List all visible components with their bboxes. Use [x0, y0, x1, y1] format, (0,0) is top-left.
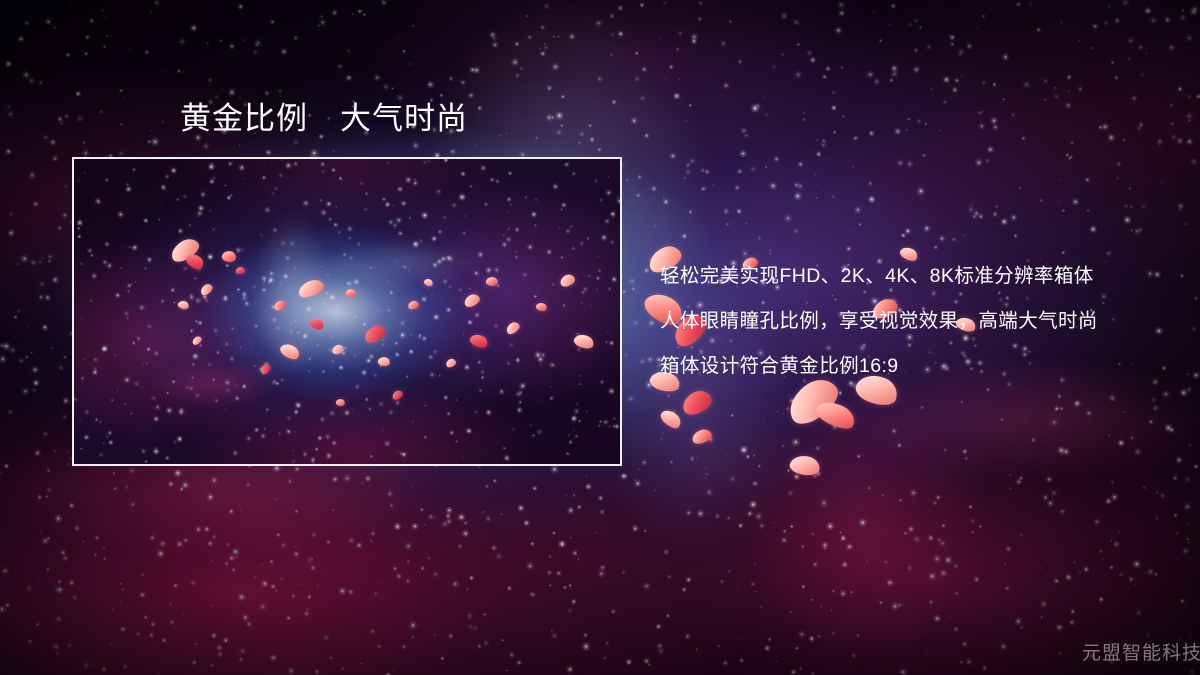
body-copy: 轻松完美实现FHD、2K、4K、8K标准分辨率箱体 人体眼睛瞳孔比例，享受视觉效… — [660, 254, 1180, 389]
panel-starfield — [74, 159, 620, 464]
page-title: 黄金比例 大气时尚 — [180, 100, 468, 138]
body-line-3: 箱体设计符合黄金比例16:9 — [660, 344, 1180, 389]
watermark: 元盟智能科技 — [1082, 638, 1200, 665]
slide-canvas: 黄金比例 大气时尚 轻松完美实现FHD、2K、4K、8K标准分辨率箱体 人体眼睛… — [0, 0, 1200, 675]
body-line-1: 轻松完美实现FHD、2K、4K、8K标准分辨率箱体 — [660, 254, 1180, 299]
body-line-2: 人体眼睛瞳孔比例，享受视觉效果，高端大气时尚 — [660, 299, 1180, 344]
galaxy-preview-frame — [72, 157, 622, 466]
